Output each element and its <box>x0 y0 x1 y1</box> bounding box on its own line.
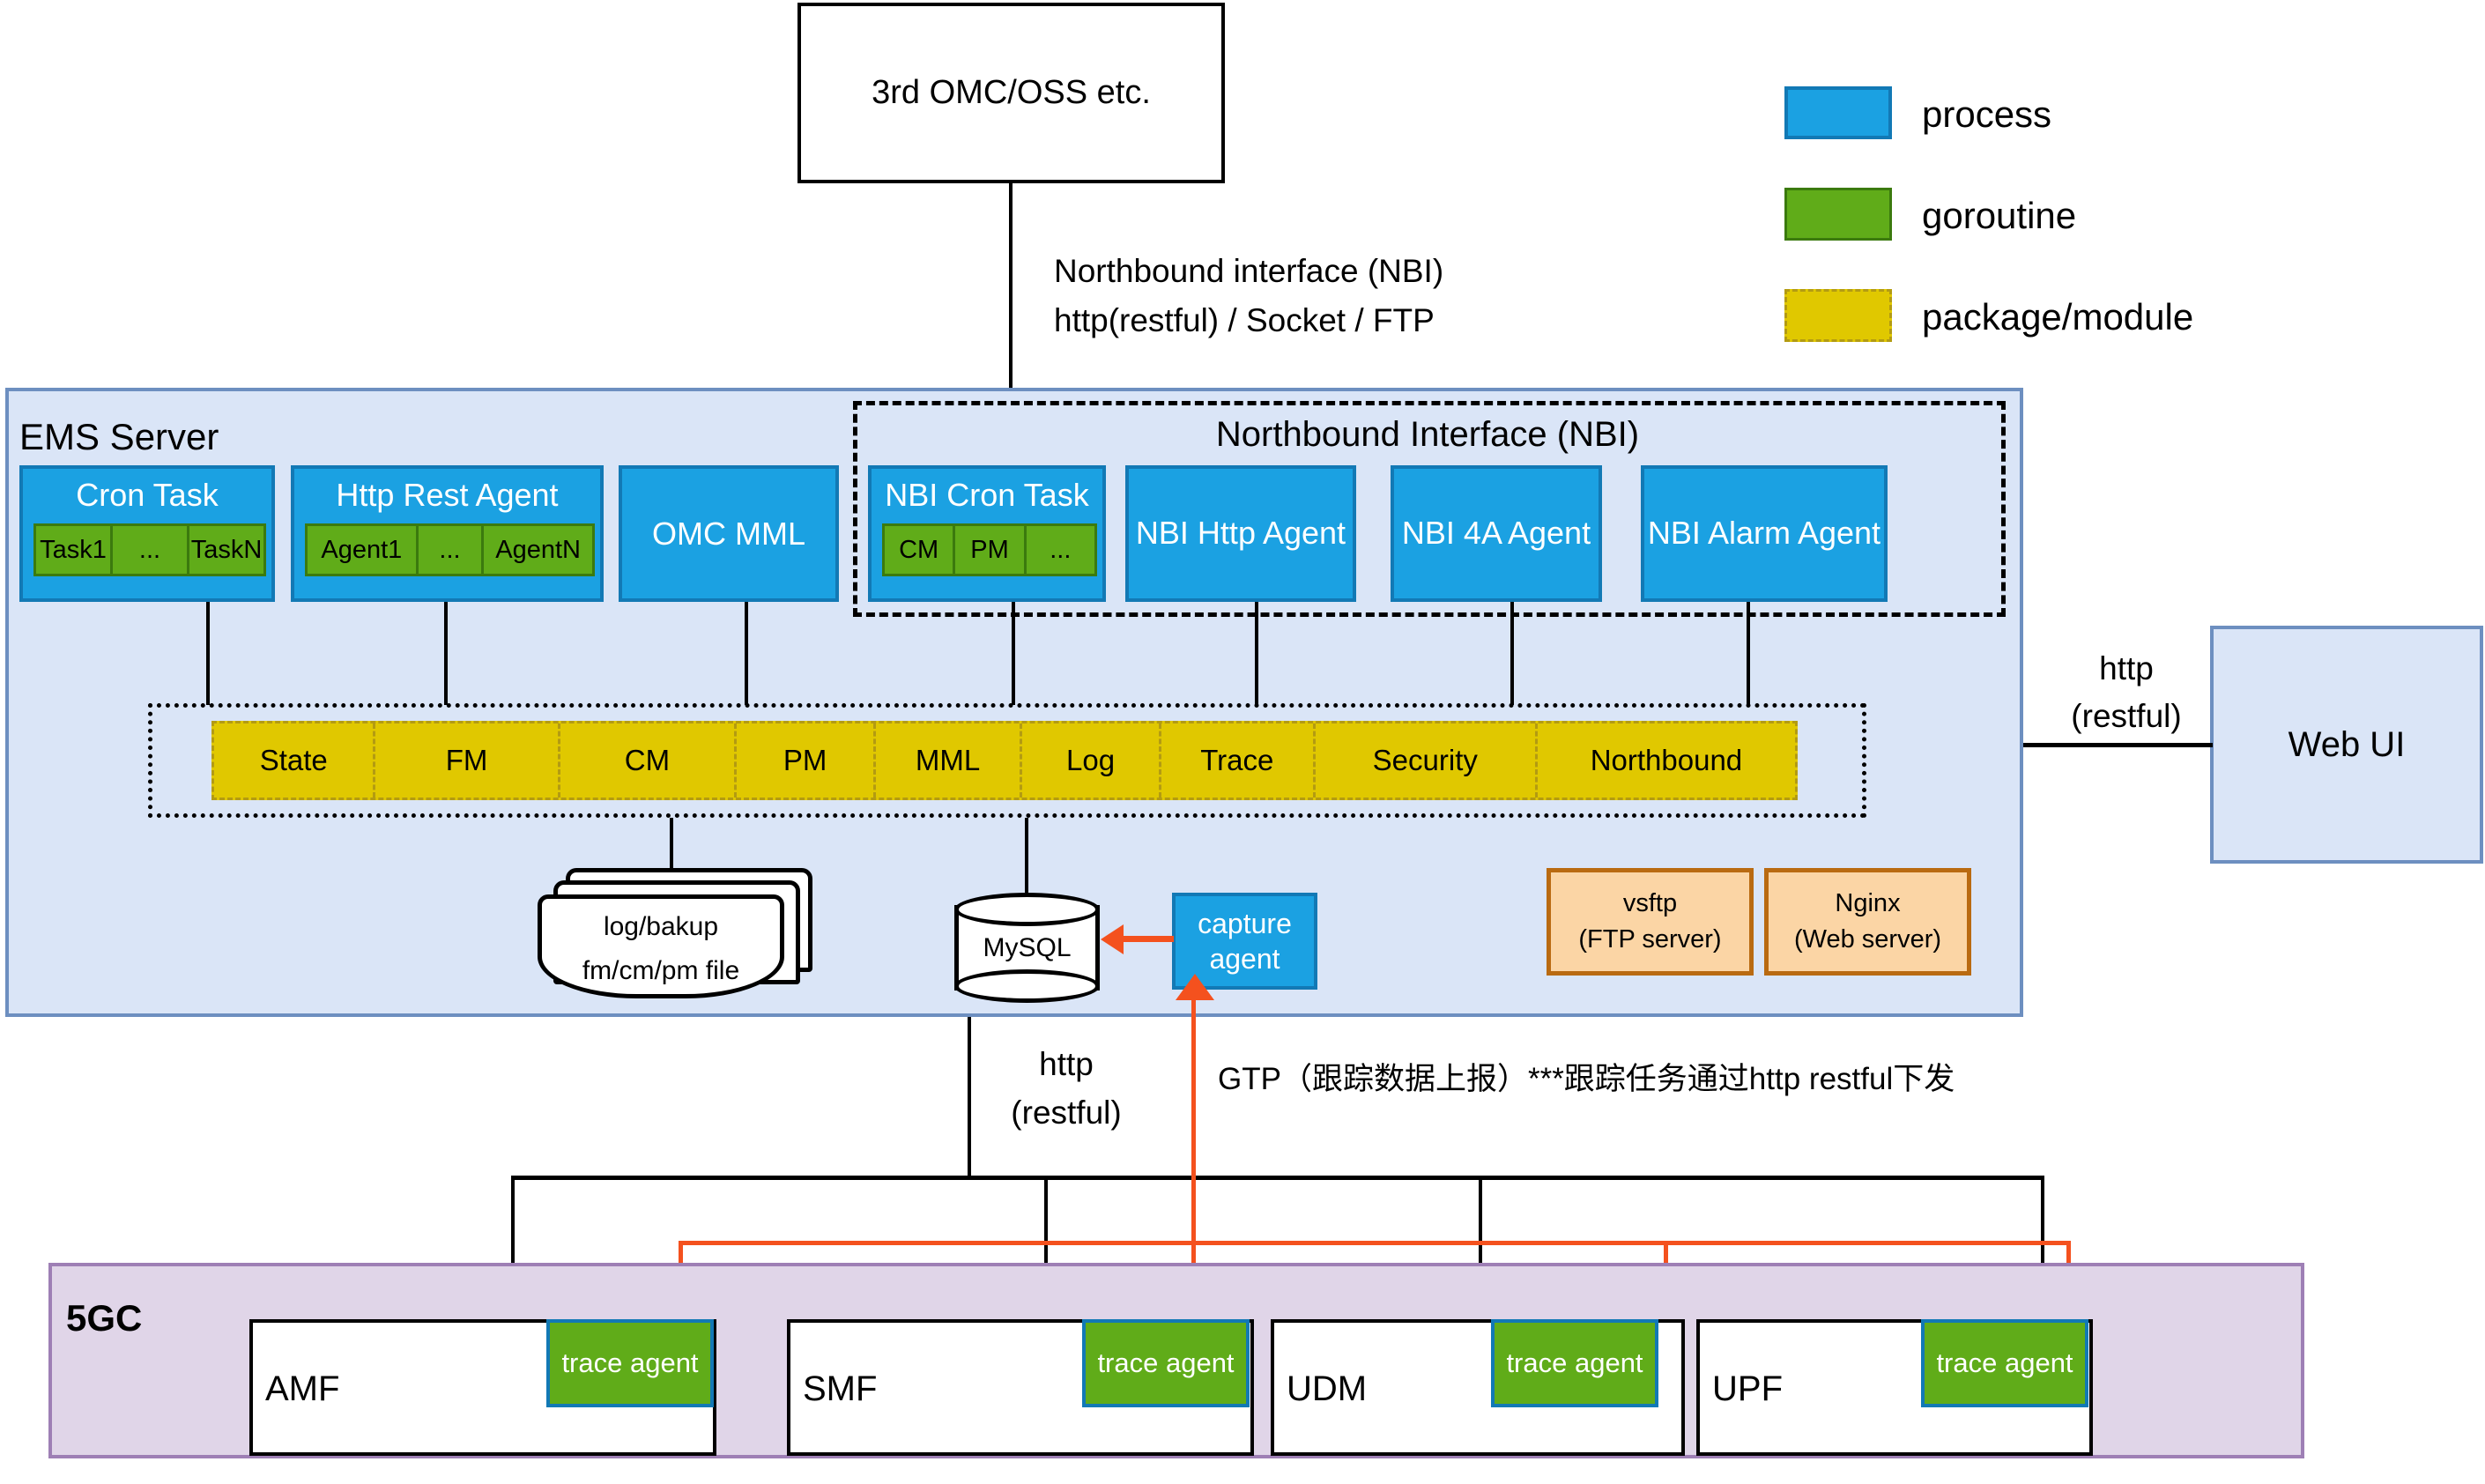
web-ui-label: Web UI <box>2288 725 2406 765</box>
legend-label-package-module: package/module <box>1922 294 2193 341</box>
database-mysql[interactable]: MySQL <box>954 893 1100 1003</box>
process-cron-task-label: Cron Task <box>23 469 271 522</box>
database-top-ellipse <box>954 893 1100 926</box>
ems-server-title: EMS Server <box>19 414 219 461</box>
module-log[interactable]: Log <box>1022 723 1161 798</box>
goroutine-pm[interactable]: PM <box>955 526 1026 574</box>
process-nbi-4a-agent-label: NBI 4A Agent <box>1402 512 1591 555</box>
third-party-omc-oss-label: 3rd OMC/OSS etc. <box>872 74 1151 112</box>
network-function-amf-label: AMF <box>265 1367 339 1411</box>
oss-to-ems-connector <box>1009 183 1013 388</box>
trace-agent-upf-label: trace agent <box>1936 1347 2073 1381</box>
module-state[interactable]: State <box>214 723 375 798</box>
legend-swatch-package-module <box>1784 289 1892 342</box>
network-function-upf-label: UPF <box>1712 1367 1783 1411</box>
module-bar: State FM CM PM MML Log Trace Security No… <box>211 721 1798 800</box>
process-nbi-cron-task-label: NBI Cron Task <box>872 469 1102 522</box>
server-vsftp-line2: (FTP server) <box>1578 925 1721 953</box>
gtp-trunk-to-capture-agent <box>1191 994 1196 1243</box>
nbi-group-title: Northbound Interface (NBI) <box>961 412 1895 456</box>
legend-swatch-process <box>1784 86 1892 139</box>
process-nbi-alarm-agent[interactable]: NBI Alarm Agent <box>1641 465 1888 602</box>
trace-agent-amf[interactable]: trace agent <box>546 1319 714 1407</box>
connector-nbi-cron-task-to-modules <box>1012 602 1015 705</box>
connector-modules-to-database <box>1025 818 1028 893</box>
gtp-note-label: GTP（跟踪数据上报）***跟踪任务通过http restful下发 <box>1218 1060 1955 1099</box>
web-ui-box[interactable]: Web UI <box>2210 626 2483 864</box>
server-vsftp-label: vsftp(FTP server) <box>1578 886 1721 957</box>
file-store-label-line1: log/bakup <box>538 910 784 944</box>
nbi-link-label-line2: http(restful) / Socket / FTP <box>1054 301 1435 341</box>
goroutine-cm[interactable]: CM <box>885 526 955 574</box>
nbi-link-label-line1: Northbound interface (NBI) <box>1054 251 1443 292</box>
process-nbi-alarm-agent-label: NBI Alarm Agent <box>1648 512 1880 555</box>
goroutine-agent1[interactable]: Agent1 <box>308 526 419 574</box>
module-security[interactable]: Security <box>1316 723 1538 798</box>
server-nginx-label: Nginx(Web server) <box>1794 886 1941 957</box>
connector-nbi-http-agent-to-modules <box>1255 602 1258 705</box>
server-vsftp-line1: vsftp <box>1623 889 1677 917</box>
server-nginx-line1: Nginx <box>1835 889 1900 917</box>
process-nbi-4a-agent[interactable]: NBI 4A Agent <box>1391 465 1602 602</box>
goroutine-ellipsis: ... <box>1027 526 1094 574</box>
connector-nbi-alarm-agent-to-modules <box>1747 602 1750 705</box>
trace-agent-smf-label: trace agent <box>1097 1347 1234 1381</box>
goroutine-row-nbi-cron-task: CM PM ... <box>882 523 1097 576</box>
process-http-rest-agent-label: Http Rest Agent <box>294 469 600 522</box>
trace-agent-smf[interactable]: trace agent <box>1082 1319 1250 1407</box>
server-nginx-line2: (Web server) <box>1794 925 1941 953</box>
http-restful-label-line1: http <box>983 1044 1150 1085</box>
trace-agent-udm-label: trace agent <box>1506 1347 1643 1381</box>
network-function-udm-label: UDM <box>1287 1367 1367 1411</box>
module-mml[interactable]: MML <box>876 723 1022 798</box>
goroutine-taskn[interactable]: TaskN <box>189 526 263 574</box>
goroutine-row-http-rest-agent: Agent1 ... AgentN <box>305 523 595 576</box>
legend-label-goroutine: goroutine <box>1922 193 2076 240</box>
capture-agent-to-database-arrow-head <box>1101 924 1124 954</box>
legend-swatch-goroutine <box>1784 188 1892 241</box>
connector-omc-mml-to-modules <box>745 602 748 705</box>
goroutine-row-cron-task: Task1 ... TaskN <box>33 523 266 576</box>
goroutine-agentn[interactable]: AgentN <box>484 526 592 574</box>
goroutine-ellipsis: ... <box>419 526 485 574</box>
legend: process goroutine package/module <box>1784 86 2331 324</box>
legend-item-package-module: package/module <box>1784 289 2331 344</box>
gc5-title: 5GC <box>66 1295 142 1342</box>
database-bottom-ellipse <box>954 969 1100 1003</box>
legend-item-goroutine: goroutine <box>1784 188 2331 242</box>
connector-nbi-4a-agent-to-modules <box>1510 602 1514 705</box>
http-restful-label-line2: (restful) <box>974 1093 1159 1133</box>
gtp-bus <box>679 1241 2071 1245</box>
module-cm[interactable]: CM <box>560 723 738 798</box>
web-ui-link-label-line2: (restful) <box>2034 696 2219 737</box>
goroutine-task1[interactable]: Task1 <box>36 526 113 574</box>
module-pm[interactable]: PM <box>737 723 876 798</box>
process-cron-task[interactable]: Cron Task Task1 ... TaskN <box>19 465 275 602</box>
server-vsftp[interactable]: vsftp(FTP server) <box>1547 868 1754 976</box>
trace-agent-udm[interactable]: trace agent <box>1491 1319 1658 1407</box>
legend-item-process: process <box>1784 86 2331 141</box>
http-restful-bus <box>511 1176 2044 1180</box>
module-trace[interactable]: Trace <box>1161 723 1316 798</box>
module-fm[interactable]: FM <box>375 723 560 798</box>
server-nginx[interactable]: Nginx(Web server) <box>1764 868 1971 976</box>
process-nbi-http-agent[interactable]: NBI Http Agent <box>1125 465 1356 602</box>
file-store-label-line2: fm/cm/pm file <box>538 954 784 988</box>
third-party-omc-oss-box[interactable]: 3rd OMC/OSS etc. <box>797 3 1225 183</box>
gtp-trunk-arrow-head <box>1176 974 1214 1000</box>
process-http-rest-agent[interactable]: Http Rest Agent Agent1 ... AgentN <box>291 465 604 602</box>
connector-cron-task-to-modules <box>206 602 210 705</box>
ems-to-webui-connector <box>2023 743 2213 747</box>
capture-agent-to-database-arrow-shaft <box>1121 936 1174 942</box>
connector-http-rest-agent-to-modules <box>444 602 448 705</box>
process-omc-mml[interactable]: OMC MML <box>619 465 839 602</box>
http-restful-trunk <box>968 1017 971 1176</box>
goroutine-ellipsis: ... <box>113 526 189 574</box>
network-function-smf-label: SMF <box>803 1367 877 1411</box>
process-capture-agent-label: capture agent <box>1176 906 1314 976</box>
legend-label-process: process <box>1922 92 2051 138</box>
web-ui-link-label-line1: http <box>2043 649 2210 689</box>
trace-agent-upf[interactable]: trace agent <box>1921 1319 2088 1407</box>
process-nbi-http-agent-label: NBI Http Agent <box>1136 512 1346 555</box>
database-label: MySQL <box>954 928 1100 968</box>
module-northbound[interactable]: Northbound <box>1538 723 1795 798</box>
file-store-stack: log/bakup fm/cm/pm file <box>529 868 833 1009</box>
trace-agent-amf-label: trace agent <box>561 1347 698 1381</box>
process-nbi-cron-task[interactable]: NBI Cron Task CM PM ... <box>868 465 1106 602</box>
process-omc-mml-label: OMC MML <box>652 516 805 553</box>
